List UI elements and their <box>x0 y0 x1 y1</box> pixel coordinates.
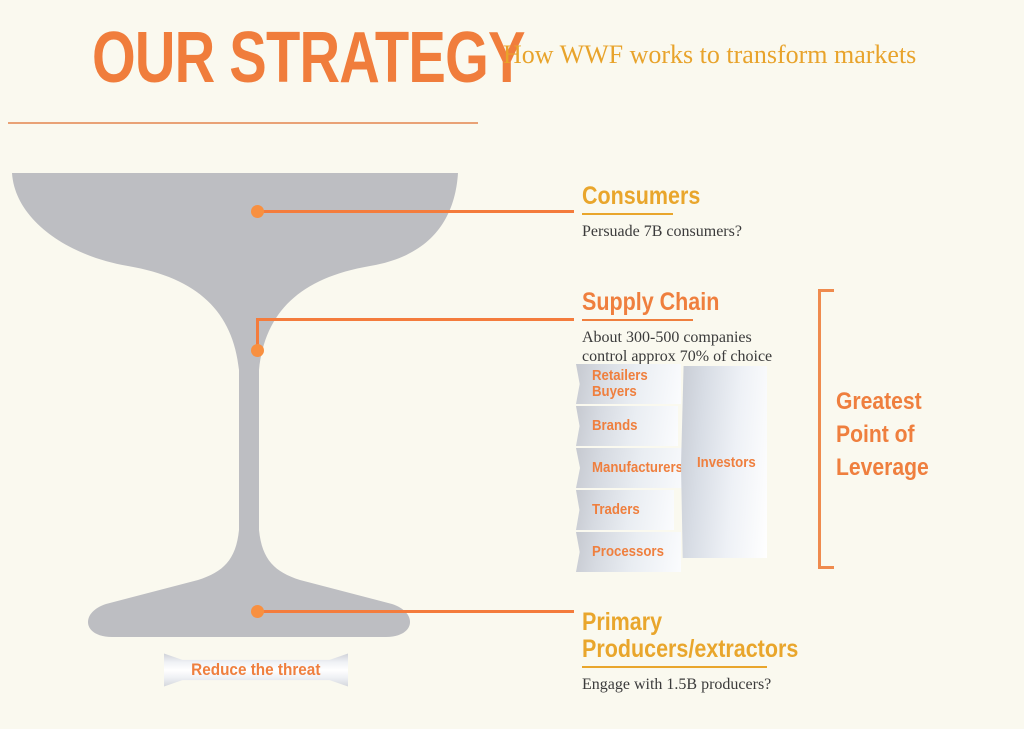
title-divider <box>8 122 478 124</box>
tier-label: Retailers Buyers <box>592 368 648 400</box>
supply-chain-investors-column[interactable]: Investors <box>681 366 767 558</box>
callout-primary-producers: Primary Producers/extractors Engage with… <box>582 609 902 694</box>
infographic-page: OUR STRATEGY How WWF works to transform … <box>0 0 1024 729</box>
tier-label: Traders <box>592 502 640 518</box>
connector-dot-primary-producers <box>251 605 264 618</box>
callout-supply-chain: Supply Chain About 300-500 companies con… <box>582 289 882 366</box>
connector-dot-supply-chain <box>251 344 264 357</box>
supply-chain-tier-traders[interactable]: Traders <box>576 490 674 530</box>
supply-chain-tier-retailers-buyers[interactable]: Retailers Buyers <box>576 364 681 404</box>
reduce-the-threat-label: Reduce the threat <box>191 660 320 680</box>
connector-dot-consumers <box>251 205 264 218</box>
supply-chain-tier-brands[interactable]: Brands <box>576 406 678 446</box>
market-funnel-glass-illustration <box>0 160 470 650</box>
connector-line-primary-producers <box>262 610 574 613</box>
leverage-bracket <box>818 289 834 569</box>
callout-primary-producers-underline <box>582 666 767 668</box>
supply-chain-tier-list: Retailers Buyers Brands Manufacturers Tr… <box>576 364 691 574</box>
callout-consumers-subtext: Persuade 7B consumers? <box>582 222 882 241</box>
tier-label: Processors <box>592 544 664 560</box>
callout-consumers: Consumers Persuade 7B consumers? <box>582 183 882 241</box>
callout-supply-chain-heading: Supply Chain <box>582 289 840 316</box>
tier-label: Manufacturers <box>592 460 683 476</box>
callout-consumers-underline <box>582 213 673 215</box>
investors-label: Investors <box>697 454 756 471</box>
callout-consumers-heading: Consumers <box>582 183 840 210</box>
connector-line-supply-chain-horizontal <box>256 318 574 321</box>
page-subtitle: How WWF works to transform markets <box>503 40 916 70</box>
connector-line-consumers <box>262 210 574 213</box>
callout-primary-producers-subtext: Engage with 1.5B producers? <box>582 675 902 694</box>
tier-label: Brands <box>592 418 637 434</box>
callout-supply-chain-underline <box>582 319 693 321</box>
reduce-the-threat-banner[interactable]: Reduce the threat <box>164 652 348 688</box>
supply-chain-tier-manufacturers[interactable]: Manufacturers <box>576 448 691 488</box>
page-title: OUR STRATEGY <box>92 22 525 94</box>
leverage-label: Greatest Point of Leverage <box>836 385 929 484</box>
supply-chain-tier-processors[interactable]: Processors <box>576 532 681 572</box>
callout-supply-chain-subtext: About 300-500 companies control approx 7… <box>582 328 882 366</box>
glass-shape <box>12 173 458 637</box>
callout-primary-producers-heading: Primary Producers/extractors <box>582 609 857 663</box>
